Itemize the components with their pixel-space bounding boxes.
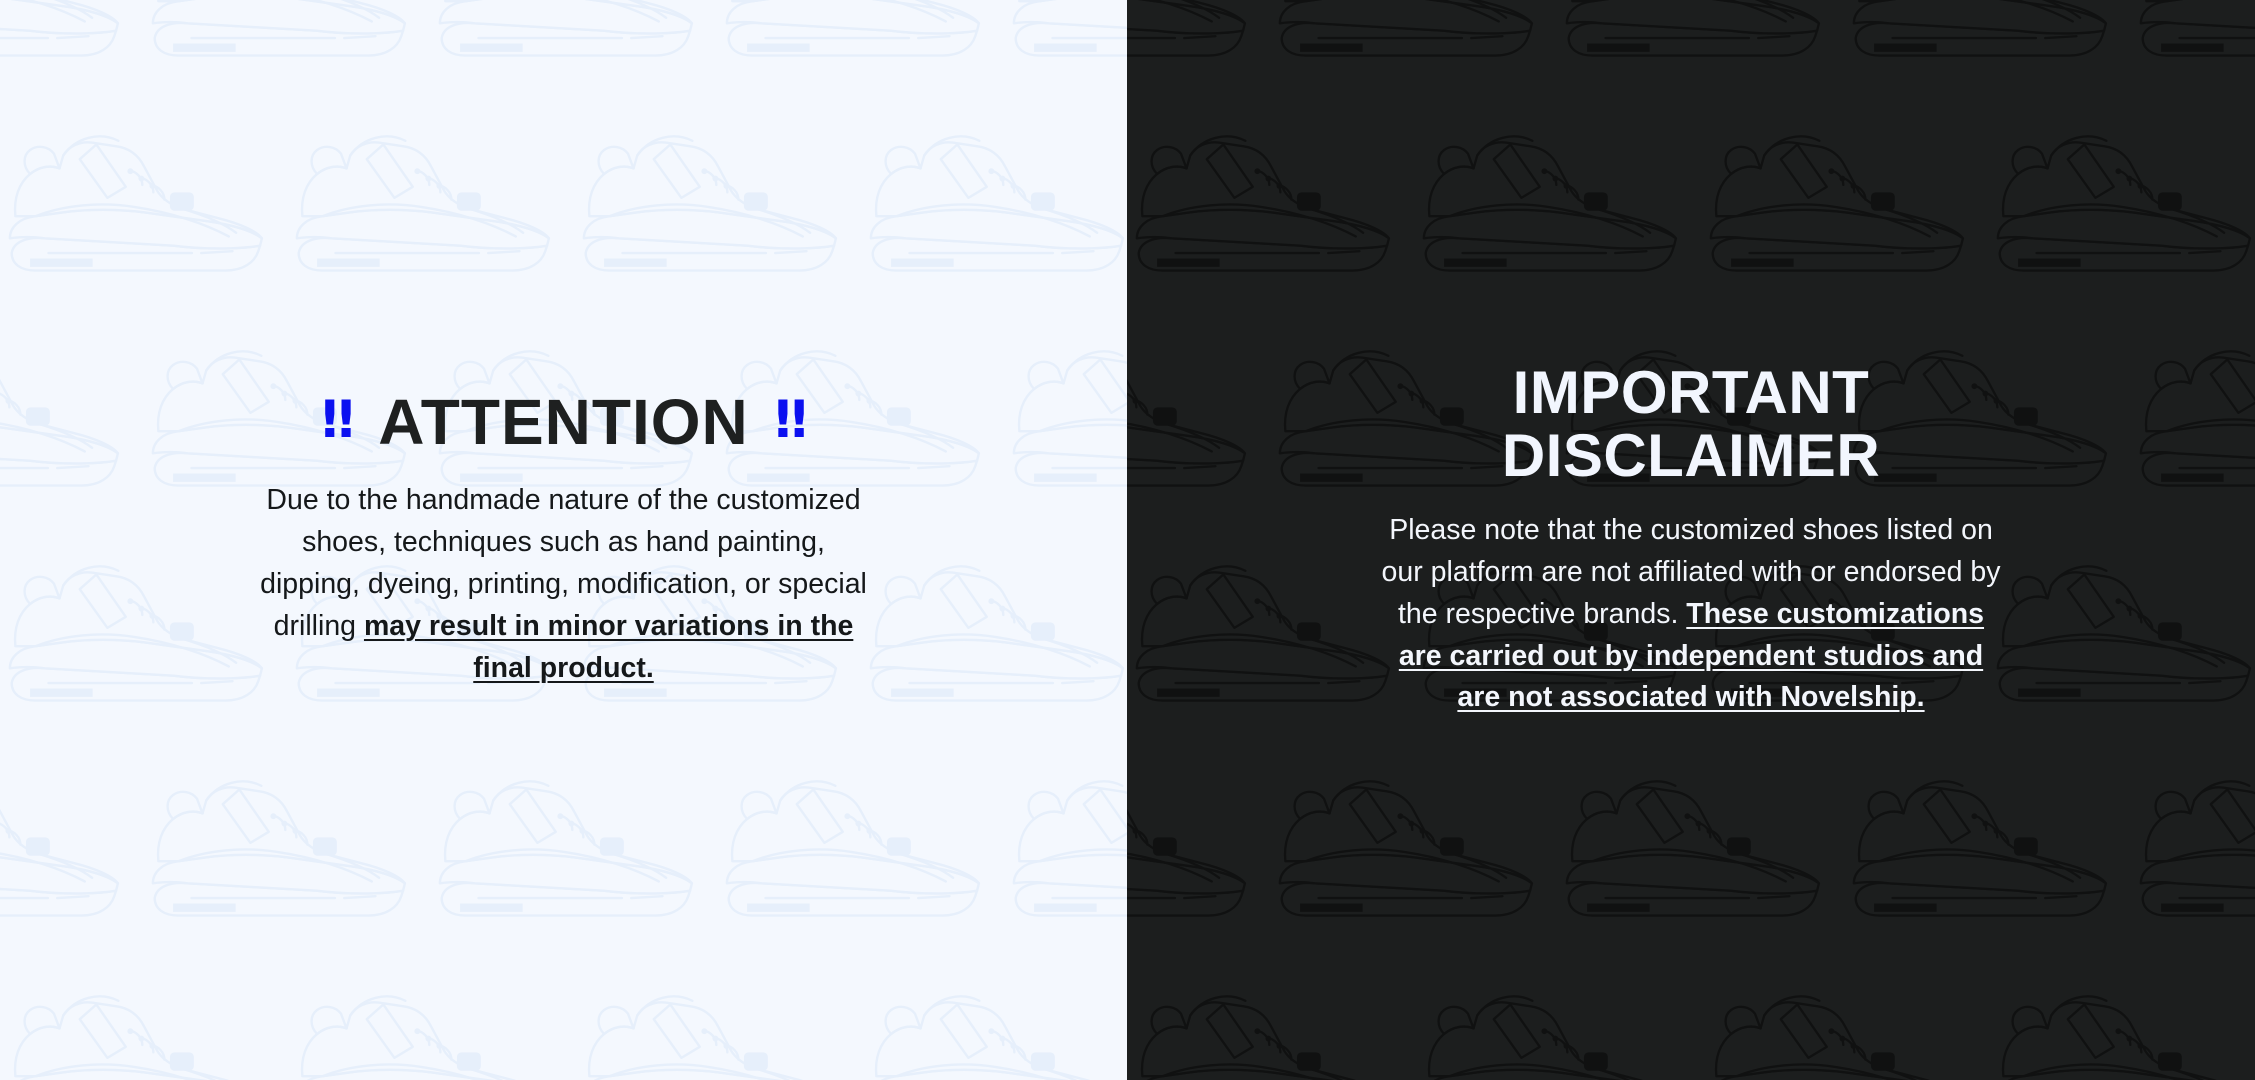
attention-content: ‼ ATTENTION ‼ Due to the handmade nature… xyxy=(0,0,1127,1080)
disclaimer-body: Please note that the customized shoes li… xyxy=(1374,510,2009,719)
split-banner: ‼ ATTENTION ‼ Due to the handmade nature… xyxy=(0,0,2255,1080)
double-exclamation-left-icon: ‼ xyxy=(322,394,353,446)
attention-heading: ‼ ATTENTION ‼ xyxy=(322,390,806,454)
disclaimer-heading-line2: DISCLAIMER xyxy=(1502,422,1880,489)
double-exclamation-right-icon: ‼ xyxy=(775,394,806,446)
attention-heading-text: ATTENTION xyxy=(378,390,748,454)
attention-body: Due to the handmade nature of the custom… xyxy=(259,480,869,689)
disclaimer-panel: IMPORTANT DISCLAIMER Please note that th… xyxy=(1127,0,2255,1080)
disclaimer-heading: IMPORTANT DISCLAIMER xyxy=(1502,361,1880,488)
attention-panel: ‼ ATTENTION ‼ Due to the handmade nature… xyxy=(0,0,1127,1080)
attention-body-emphasis: may result in minor variations in the fi… xyxy=(364,610,853,684)
disclaimer-content: IMPORTANT DISCLAIMER Please note that th… xyxy=(1127,0,2255,1080)
disclaimer-heading-line1: IMPORTANT xyxy=(1513,359,1870,426)
